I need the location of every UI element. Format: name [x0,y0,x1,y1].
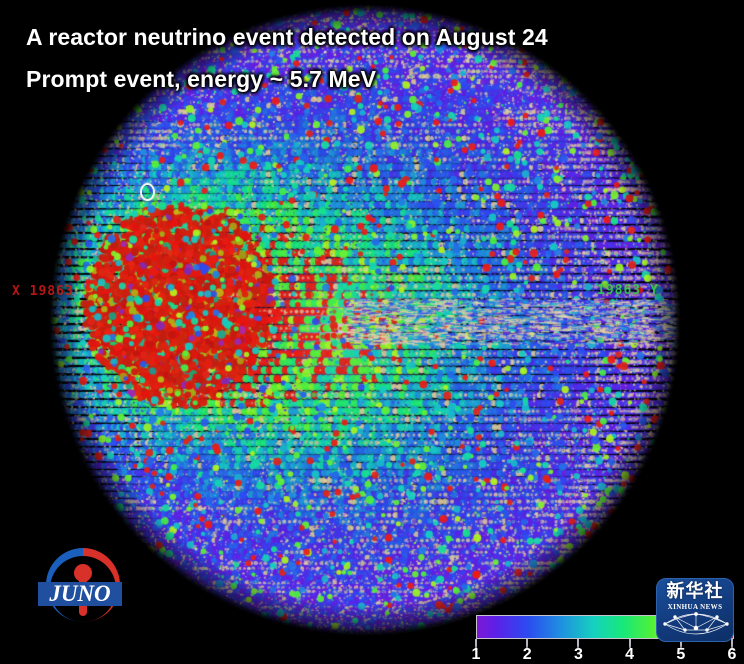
juno-wordmark: JUNO [48,581,110,606]
colorbar-tick-label: 3 [574,646,583,664]
event-display-stage: X 19863 19863 Y A reactor neutrino event… [0,0,744,664]
axis-label-x: X 19863 [12,284,74,299]
colorbar-tick-label: 6 [728,646,737,664]
xinhua-logo-chinese-text: 新华社 [657,583,733,601]
colorbar-tick-label: 2 [523,646,532,664]
xinhua-news-logo: 新华社 XINHUA NEWS [656,578,734,642]
colorbar-tick-label: 5 [676,646,685,664]
vertex-ring-marker [140,183,155,201]
axis-label-y: 19863 Y [597,283,659,298]
colorbar-tick-label: 4 [625,646,634,664]
colorbar-tick-label: 1 [472,646,481,664]
xinhua-network-globe-icon [661,610,731,642]
juno-logo: JUNO [28,542,138,628]
